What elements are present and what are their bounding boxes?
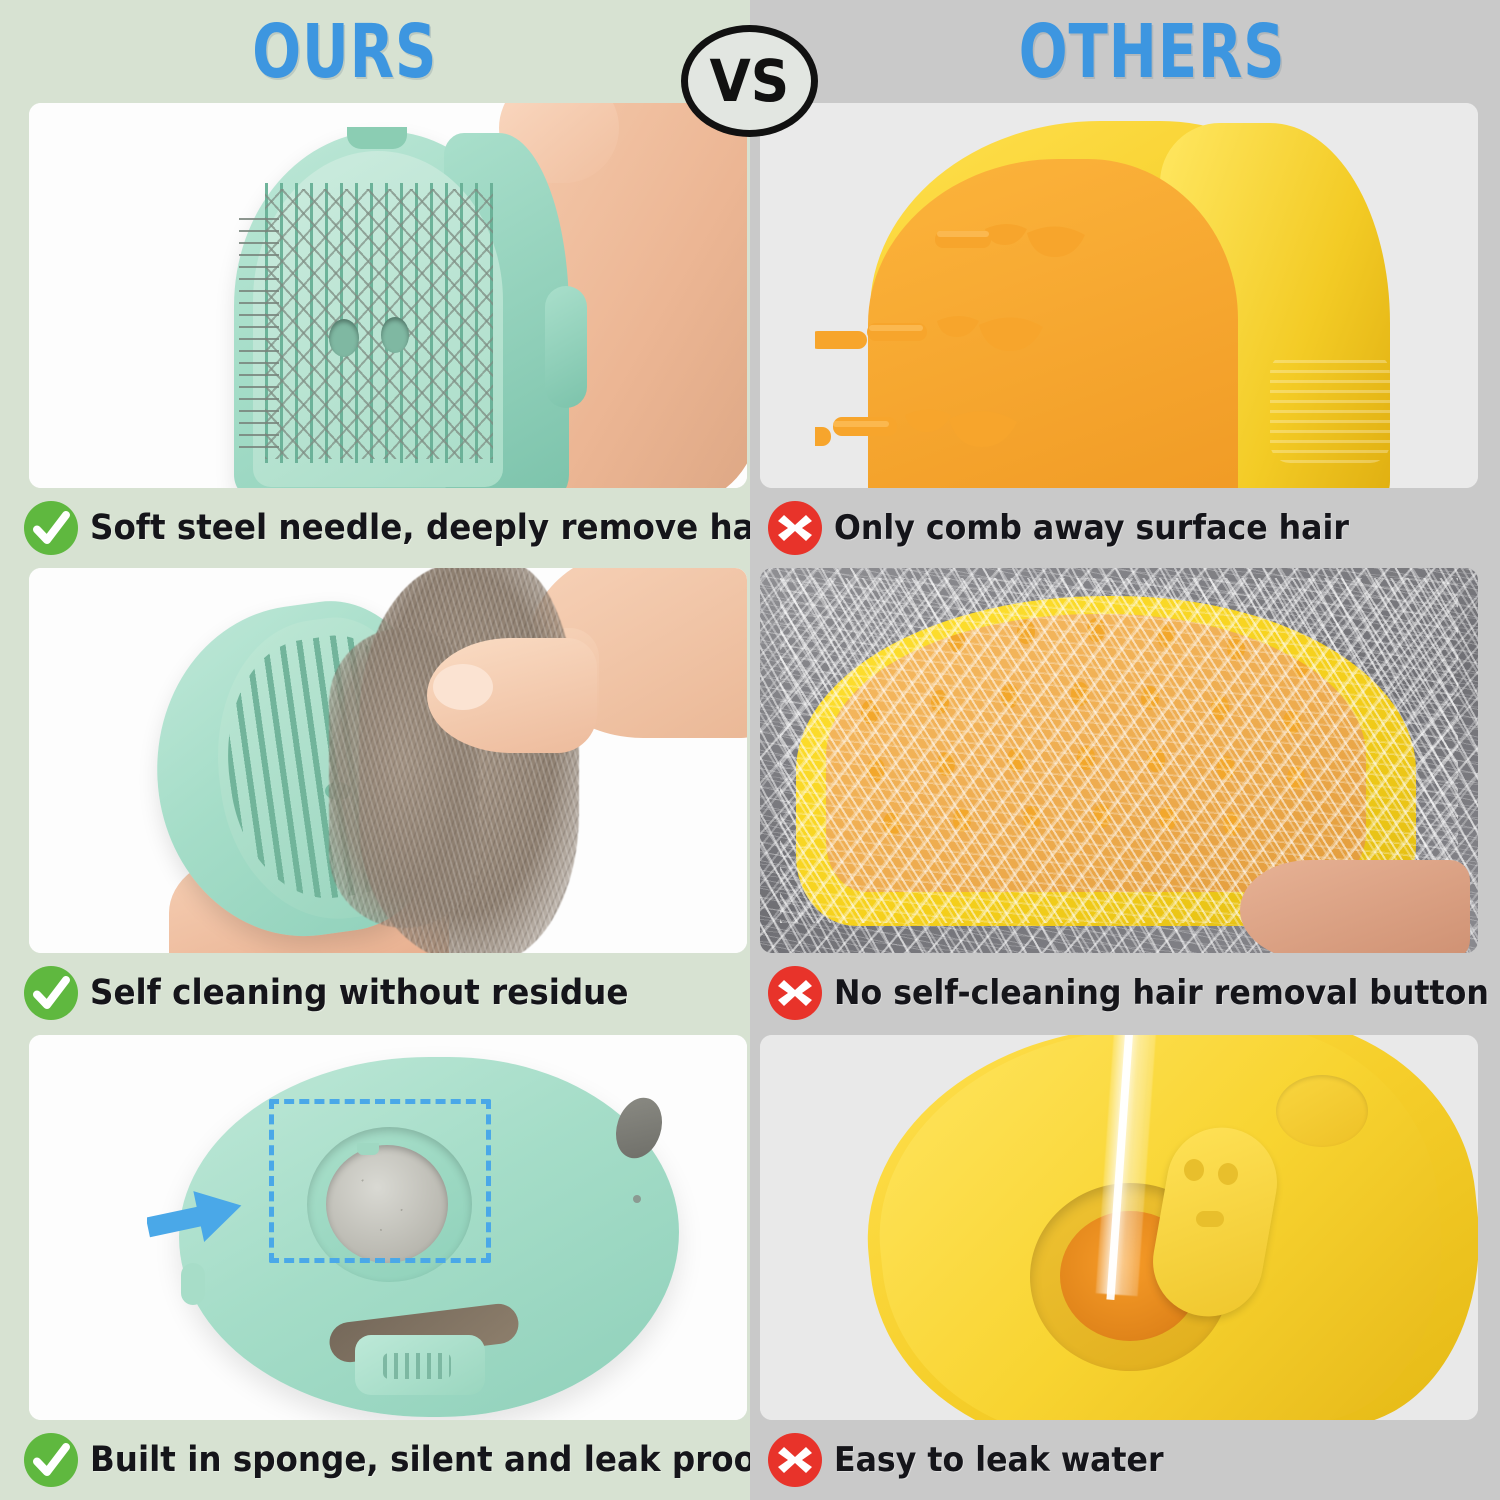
ours-caption-3: Built in sponge, silent and leak proof — [0, 1420, 750, 1500]
ours-photo-needles — [29, 103, 747, 488]
ours-title: OURS — [252, 15, 437, 89]
others-caption-2-label: No self-cleaning hair removal button — [834, 974, 1489, 1012]
red-cross-icon — [766, 964, 824, 1022]
ours-column: OURS — [0, 0, 750, 1500]
vs-label: VS — [710, 52, 790, 110]
others-caption-3-label: Easy to leak water — [834, 1441, 1164, 1479]
red-cross-icon — [766, 499, 824, 557]
vs-badge: VS — [681, 25, 818, 137]
green-check-icon — [22, 964, 80, 1022]
others-caption-1: Only comb away surface hair — [750, 488, 1500, 568]
others-header: OTHERS — [750, 0, 1500, 103]
others-photo-tangled — [760, 568, 1478, 953]
green-check-icon — [22, 1431, 80, 1489]
ours-caption-1: Soft steel needle, deeply remove hair — [0, 488, 750, 568]
others-caption-1-label: Only comb away surface hair — [834, 509, 1349, 547]
sponge-highlight-box — [269, 1099, 491, 1263]
ours-row-3: Built in sponge, silent and leak proof — [0, 1035, 750, 1500]
others-caption-2: No self-cleaning hair removal button — [750, 953, 1500, 1033]
ours-caption-1-label: Soft steel needle, deeply remove hair — [90, 509, 782, 547]
ours-row-2: Self cleaning without residue — [0, 568, 750, 1035]
ours-caption-2: Self cleaning without residue — [0, 953, 750, 1033]
ours-photo-sponge — [29, 1035, 747, 1420]
blue-arrow-icon — [147, 1187, 247, 1249]
others-row-3: Easy to leak water — [750, 1035, 1500, 1500]
ours-photo-selfclean — [29, 568, 747, 953]
comparison-infographic: OURS — [0, 0, 1500, 1500]
red-cross-icon — [766, 1431, 824, 1489]
others-row-1: Only comb away surface hair — [750, 103, 1500, 568]
others-photo-nubs — [760, 103, 1478, 488]
ours-header: OURS — [0, 0, 750, 103]
others-caption-3: Easy to leak water — [750, 1420, 1500, 1500]
ours-caption-2-label: Self cleaning without residue — [90, 974, 628, 1012]
others-title: OTHERS — [1019, 15, 1286, 89]
green-check-icon — [22, 499, 80, 557]
ours-row-1: Soft steel needle, deeply remove hair — [0, 103, 750, 568]
others-photo-leak — [760, 1035, 1478, 1420]
others-row-2: No self-cleaning hair removal button — [750, 568, 1500, 1035]
ours-caption-3-label: Built in sponge, silent and leak proof — [90, 1441, 770, 1479]
others-column: OTHERS — [750, 0, 1500, 1500]
